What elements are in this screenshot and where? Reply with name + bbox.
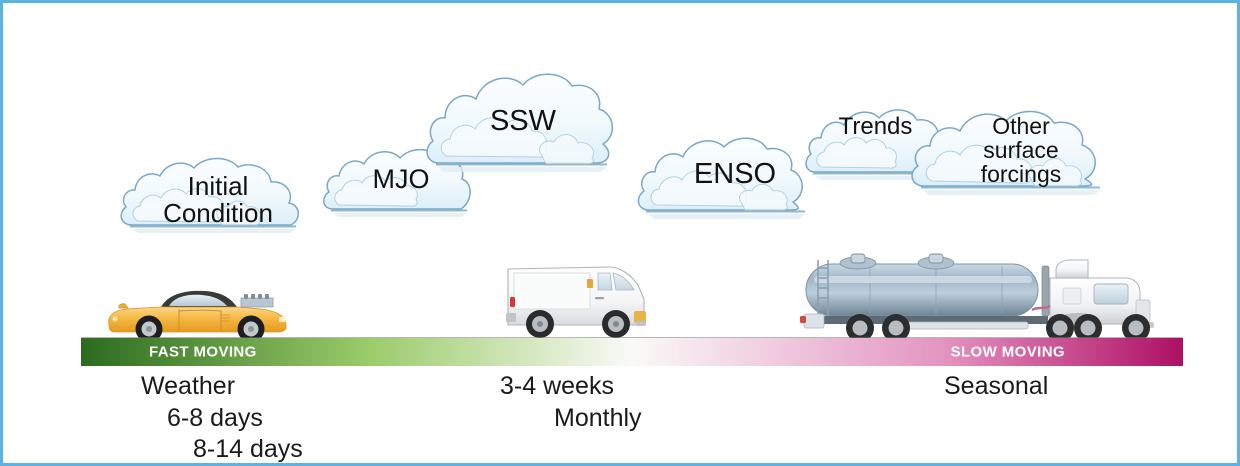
bar-label-fast-moving: FAST MOVING xyxy=(149,344,257,361)
cloud-label-initial-condition: Initial Condition xyxy=(118,173,318,227)
cloud-initial-condition: Initial Condition xyxy=(118,155,318,237)
cloud-label-mjo: MJO xyxy=(321,165,481,193)
timescale-weather-line-1: Weather xyxy=(141,371,303,403)
timescale-subseasonal: 3-4 weeks Monthly xyxy=(500,371,642,434)
cloud-label-other-surface-forcings: Other surface forcings xyxy=(908,115,1134,187)
cloud-other-surface-forcings: Other surface forcings xyxy=(908,107,1134,199)
tanker-truck-icon xyxy=(788,248,1178,344)
vehicle-tanker-truck xyxy=(788,248,1178,344)
vehicle-car xyxy=(101,281,291,343)
muscle-car-icon xyxy=(101,281,291,343)
cloud-ssw: SSW xyxy=(423,68,623,178)
timescale-weather: Weather 6-8 days 8-14 days xyxy=(141,371,303,466)
bar-label-slow-moving: SLOW MOVING xyxy=(951,344,1065,361)
cloud-label-ssw: SSW xyxy=(423,106,623,136)
timescale-seasonal: Seasonal xyxy=(944,371,1048,403)
diagram-canvas: Initial Condition MJO xyxy=(0,0,1240,466)
vehicle-van xyxy=(498,259,653,343)
cloud-label-enso: ENSO xyxy=(635,159,835,189)
speed-spectrum-bar: FAST MOVING SLOW MOVING xyxy=(81,337,1183,366)
delivery-van-icon xyxy=(498,259,653,343)
timescale-subseasonal-line-1: 3-4 weeks xyxy=(500,371,642,403)
timescale-seasonal-line-1: Seasonal xyxy=(944,371,1048,403)
timescale-weather-line-2: 6-8 days xyxy=(167,403,303,435)
timescale-subseasonal-line-2: Monthly xyxy=(554,403,642,435)
timescale-weather-line-3: 8-14 days xyxy=(193,434,303,466)
